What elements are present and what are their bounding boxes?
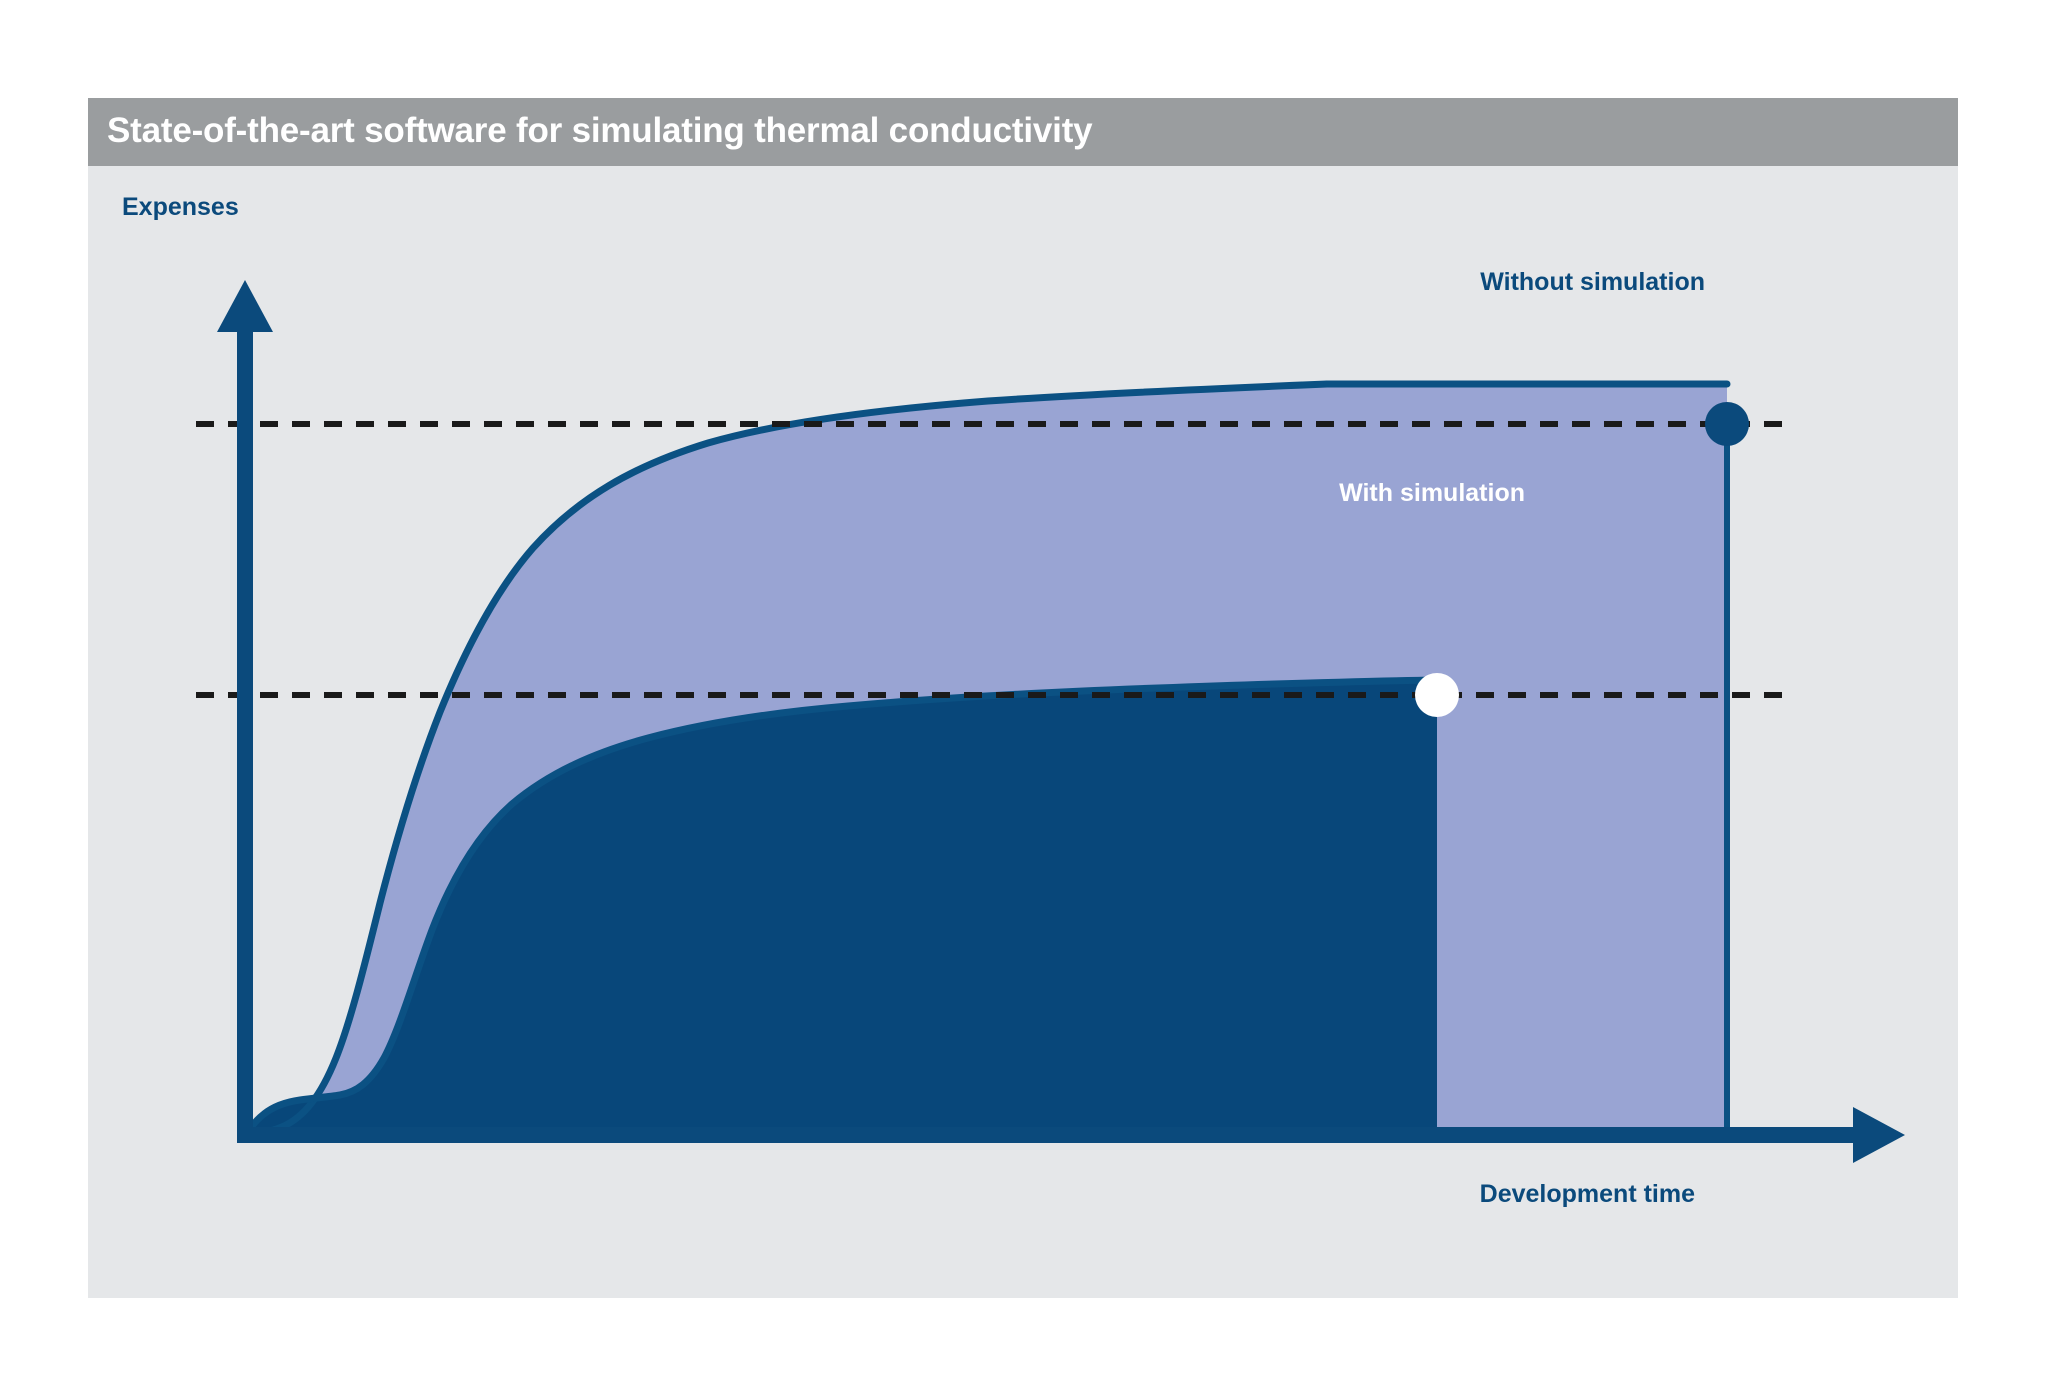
y-axis-label: Expenses: [122, 193, 239, 221]
marker-without-simulation[interactable]: [1705, 402, 1749, 446]
x-axis-arrowhead-icon: [1853, 1107, 1905, 1163]
x-axis-label: Development time: [1480, 1180, 1695, 1208]
y-axis-arrowhead-icon: [217, 280, 273, 332]
expenses-vs-development-time-chart: Expenses Development time Without simula…: [88, 98, 1958, 1298]
marker-with-simulation[interactable]: [1415, 673, 1459, 717]
screenshot-root: State-of-the-art software for simulating…: [0, 0, 2048, 1396]
without-simulation-annotation: Without simulation: [1480, 268, 1705, 296]
chart-panel: State-of-the-art software for simulating…: [88, 98, 1958, 1298]
with-simulation-annotation: With simulation: [1339, 479, 1525, 507]
